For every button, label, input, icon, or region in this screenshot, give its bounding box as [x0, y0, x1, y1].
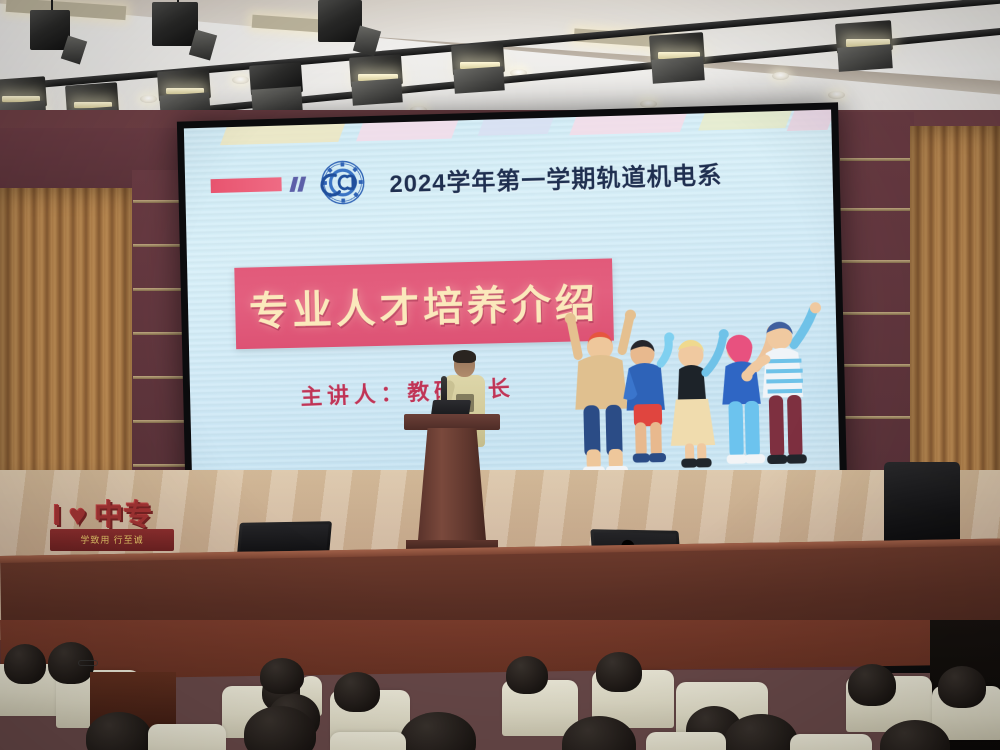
audience-seat — [330, 732, 406, 750]
audience-head — [848, 664, 896, 706]
recessed-downlight — [232, 76, 249, 84]
recessed-downlight — [140, 95, 157, 103]
audience-seat — [148, 724, 226, 750]
audience-head — [260, 658, 304, 694]
auditorium-photo: 2024学年第一学期轨道机电系 专业人才培养介绍 主讲人：教研组长 — [0, 0, 1000, 750]
decor-confetti — [356, 120, 458, 141]
slide-header-text: 2024学年第一学期轨道机电系 — [389, 155, 723, 199]
cheering-people-illustration — [559, 293, 828, 490]
audience-seat — [646, 732, 726, 750]
decor-confetti — [478, 118, 554, 136]
wall-panel-maroon — [132, 170, 186, 492]
recessed-downlight — [772, 72, 789, 80]
wall-trim — [840, 158, 914, 161]
decor-confetti — [220, 124, 345, 145]
wall-trim — [133, 288, 186, 291]
stage-spotlight — [152, 2, 204, 54]
stage-spotlight — [250, 64, 308, 116]
stage-decor-sign: I ♥ 中专 学致用 行至诚 — [50, 485, 174, 551]
audience-seat — [790, 734, 872, 750]
presenter-hair — [453, 350, 476, 363]
slide-title-text: 专业人才培养介绍 — [248, 271, 599, 337]
audience-area — [0, 620, 1000, 750]
stage-spotlight — [350, 56, 408, 108]
auditorium-rear-wall — [0, 620, 1000, 680]
wall-trim — [840, 312, 914, 315]
audience-head — [596, 652, 642, 692]
header-slash-icon — [291, 176, 304, 191]
audience-head — [506, 656, 548, 694]
wall-trim — [840, 208, 914, 211]
wood-slat-panel-left — [0, 188, 136, 488]
slide-header: 2024学年第一学期轨道机电系 — [210, 149, 723, 209]
wall-trim — [133, 464, 186, 467]
wall-trim — [133, 244, 186, 247]
audience-head — [400, 712, 476, 750]
stage-spotlight — [30, 10, 74, 58]
lectern-top — [404, 414, 500, 430]
audience-head — [938, 666, 986, 708]
wall-trim — [133, 376, 186, 379]
decor-confetti — [698, 111, 792, 131]
eyeglasses-icon — [78, 660, 98, 666]
sign-base: 学致用 行至诚 — [50, 529, 174, 551]
wall-trim — [840, 416, 914, 419]
wall-trim — [840, 260, 914, 263]
wall-trim — [840, 364, 914, 367]
lectern-body — [418, 428, 486, 540]
recessed-downlight — [828, 91, 845, 99]
wall-trim — [133, 332, 186, 335]
sign-top-text: I ♥ 中专 — [53, 502, 152, 531]
stage-spotlight — [318, 0, 370, 50]
sign-motto-text: 学致用 行至诚 — [50, 533, 174, 546]
decor-confetti — [569, 114, 687, 135]
slide-surface: 2024学年第一学期轨道机电系 专业人才培养介绍 主讲人：教研组长 — [184, 110, 840, 511]
school-gear-emblem-icon — [320, 159, 367, 206]
audience-head — [334, 672, 380, 712]
stage-spotlight — [836, 22, 898, 74]
header-accent-bar — [211, 177, 282, 193]
wood-slat-panel-right — [910, 126, 1000, 516]
stage-spotlight — [650, 34, 710, 86]
decor-confetti — [787, 110, 835, 131]
stage-spotlight — [452, 44, 510, 96]
lectern — [404, 414, 500, 552]
wall-trim — [133, 420, 186, 423]
slide-title-banner: 专业人才培养介绍 — [234, 258, 614, 349]
audience-head — [4, 644, 46, 684]
led-presentation-screen[interactable]: 2024学年第一学期轨道机电系 专业人才培养介绍 主讲人：教研组长 — [177, 102, 848, 518]
